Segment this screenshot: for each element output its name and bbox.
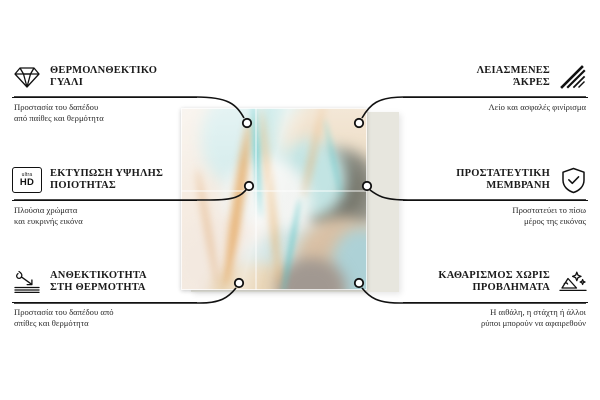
feature-heat-resistant-glass: ΘΕΡΜΟΛΝΘΕΚΤΙΚΟ ΓΥΑΛΙ Προστασία του δαπέδ… — [12, 60, 197, 123]
shield-check-icon — [558, 165, 588, 195]
title-line-1: ΕΚΤΥΠΩΣΗ ΥΨΗΛΗΣ — [50, 168, 163, 179]
hd-label: HD — [20, 178, 34, 188]
title-line-1: ΚΑΘΑΡΙΣΜΟΣ ΧΩΡΙΣ — [438, 270, 550, 281]
feature-title: ΠΡΟΣΤΑΤΕΥΤΙΚΗ ΜΕΜΒΡΑΝΗ — [456, 168, 550, 193]
flame-heat-resistance-icon — [12, 267, 42, 297]
feature-title: ΛΕΙΑΣΜΕΝΕΣ ΆΚΡΕΣ — [477, 65, 550, 90]
infographic-canvas: ΘΕΡΜΟΛΝΘΕΚΤΙΚΟ ΓΥΑΛΙ Προστασία του δαπέδ… — [0, 0, 600, 400]
title-line-2: ΠΡΟΒΛΗΜΑΤΑ — [473, 282, 550, 293]
desc-line-1: Προστασία του δαπέδου — [14, 102, 98, 112]
desc-line-1: Πλούσια χρώματα — [14, 205, 77, 215]
title-line-2: ΣΤΗ ΘΕΡΜΟΤΗΤΑ — [50, 282, 146, 293]
title-line-2: ΠΟΙΟΤΗΤΑΣ — [50, 180, 116, 191]
diamond-icon — [12, 62, 42, 92]
desc-line-1: Προστατεύει το πίσω — [512, 205, 586, 215]
title-line-2: ΜΕΜΒΡΑΝΗ — [486, 180, 550, 191]
title-line-1: ΑΝΘΕΚΤΙΚΟΤΗΤΑ — [50, 270, 147, 281]
feature-title: ΚΑΘΑΡΙΣΜΟΣ ΧΩΡΙΣ ΠΡΟΒΛΗΜΑΤΑ — [438, 270, 550, 295]
feature-title: ΑΝΘΕΚΤΙΚΟΤΗΤΑ ΣΤΗ ΘΕΡΜΟΤΗΤΑ — [50, 270, 147, 295]
divider-rule — [12, 97, 197, 98]
title-line-2: ΓΥΑΛΙ — [50, 77, 83, 88]
divider-rule — [12, 302, 197, 303]
feature-heat-durability: ΑΝΘΕΚΤΙΚΟΤΗΤΑ ΣΤΗ ΘΕΡΜΟΤΗΤΑ Προστασία το… — [12, 265, 197, 328]
desc-line-2: ρύποι μπορούν να αφαιρεθούν — [481, 318, 586, 328]
hotspot-dot-5 — [363, 182, 371, 190]
feature-easy-cleaning: ΚΑΘΑΡΙΣΜΟΣ ΧΩΡΙΣ ΠΡΟΒΛΗΜΑΤΑ Η αιθάλη, η … — [403, 265, 588, 328]
divider-rule — [403, 97, 588, 98]
easy-clean-sparkle-icon — [558, 267, 588, 297]
desc-line-2: από παίθες και θερμότητα — [14, 113, 104, 123]
divider-rule — [403, 302, 588, 303]
feature-description: Πλούσια χρώματα και ευκρινής εικόνα — [12, 205, 197, 226]
divider-rule — [403, 200, 588, 201]
feature-high-quality-print: ultra HD ΕΚΤΥΠΩΣΗ ΥΨΗΛΗΣ ΠΟΙΟΤΗΤΑΣ Πλούσ… — [12, 163, 197, 226]
desc-line-2: και ευκρινής εικόνα — [14, 216, 83, 226]
title-line-2: ΆΚΡΕΣ — [513, 77, 550, 88]
feature-description: Λείο και ασφαλές φινίρισμα — [403, 102, 588, 113]
desc-line-1: Προστασία του δαπέδου από — [14, 307, 114, 317]
feature-description: Προστατεύει το πίσω μέρος της εικόνας — [403, 205, 588, 226]
feature-description: Η αιθάλη, η στάχτη ή άλλοι ρύποι μπορούν… — [403, 307, 588, 328]
feature-title: ΕΚΤΥΠΩΣΗ ΥΨΗΛΗΣ ΠΟΙΟΤΗΤΑΣ — [50, 168, 163, 193]
feature-smoothed-edges: ΛΕΙΑΣΜΕΝΕΣ ΆΚΡΕΣ Λείο και ασφαλές φινίρι… — [403, 60, 588, 113]
title-line-1: ΘΕΡΜΟΛΝΘΕΚΤΙΚΟ — [50, 65, 157, 76]
feature-protective-membrane: ΠΡΟΣΤΑΤΕΥΤΙΚΗ ΜΕΜΒΡΑΝΗ Προστατεύει το πί… — [403, 163, 588, 226]
diagonal-stripes-icon — [558, 62, 588, 92]
hotspot-dot-3 — [235, 279, 243, 287]
title-line-1: ΛΕΙΑΣΜΕΝΕΣ — [477, 65, 550, 76]
hotspot-dot-2 — [245, 182, 253, 190]
feature-title: ΘΕΡΜΟΛΝΘΕΚΤΙΚΟ ΓΥΑΛΙ — [50, 65, 157, 90]
hotspot-dot-1 — [243, 119, 251, 127]
ultra-hd-icon: ultra HD — [12, 165, 42, 195]
feature-description: Προστασία του δαπέδου από παίθες και θερ… — [12, 102, 197, 123]
desc-line-2: σπίθες και θερμότητα — [14, 318, 89, 328]
desc-line-2: μέρος της εικόνας — [524, 216, 586, 226]
divider-rule — [12, 200, 197, 201]
title-line-1: ΠΡΟΣΤΑΤΕΥΤΙΚΗ — [456, 168, 550, 179]
hotspot-dot-6 — [355, 279, 363, 287]
feature-description: Προστασία του δαπέδου από σπίθες και θερ… — [12, 307, 197, 328]
desc-line-1: Λείο και ασφαλές φινίρισμα — [488, 102, 586, 112]
hotspot-dot-4 — [355, 119, 363, 127]
desc-line-1: Η αιθάλη, η στάχτη ή άλλοι — [490, 307, 586, 317]
